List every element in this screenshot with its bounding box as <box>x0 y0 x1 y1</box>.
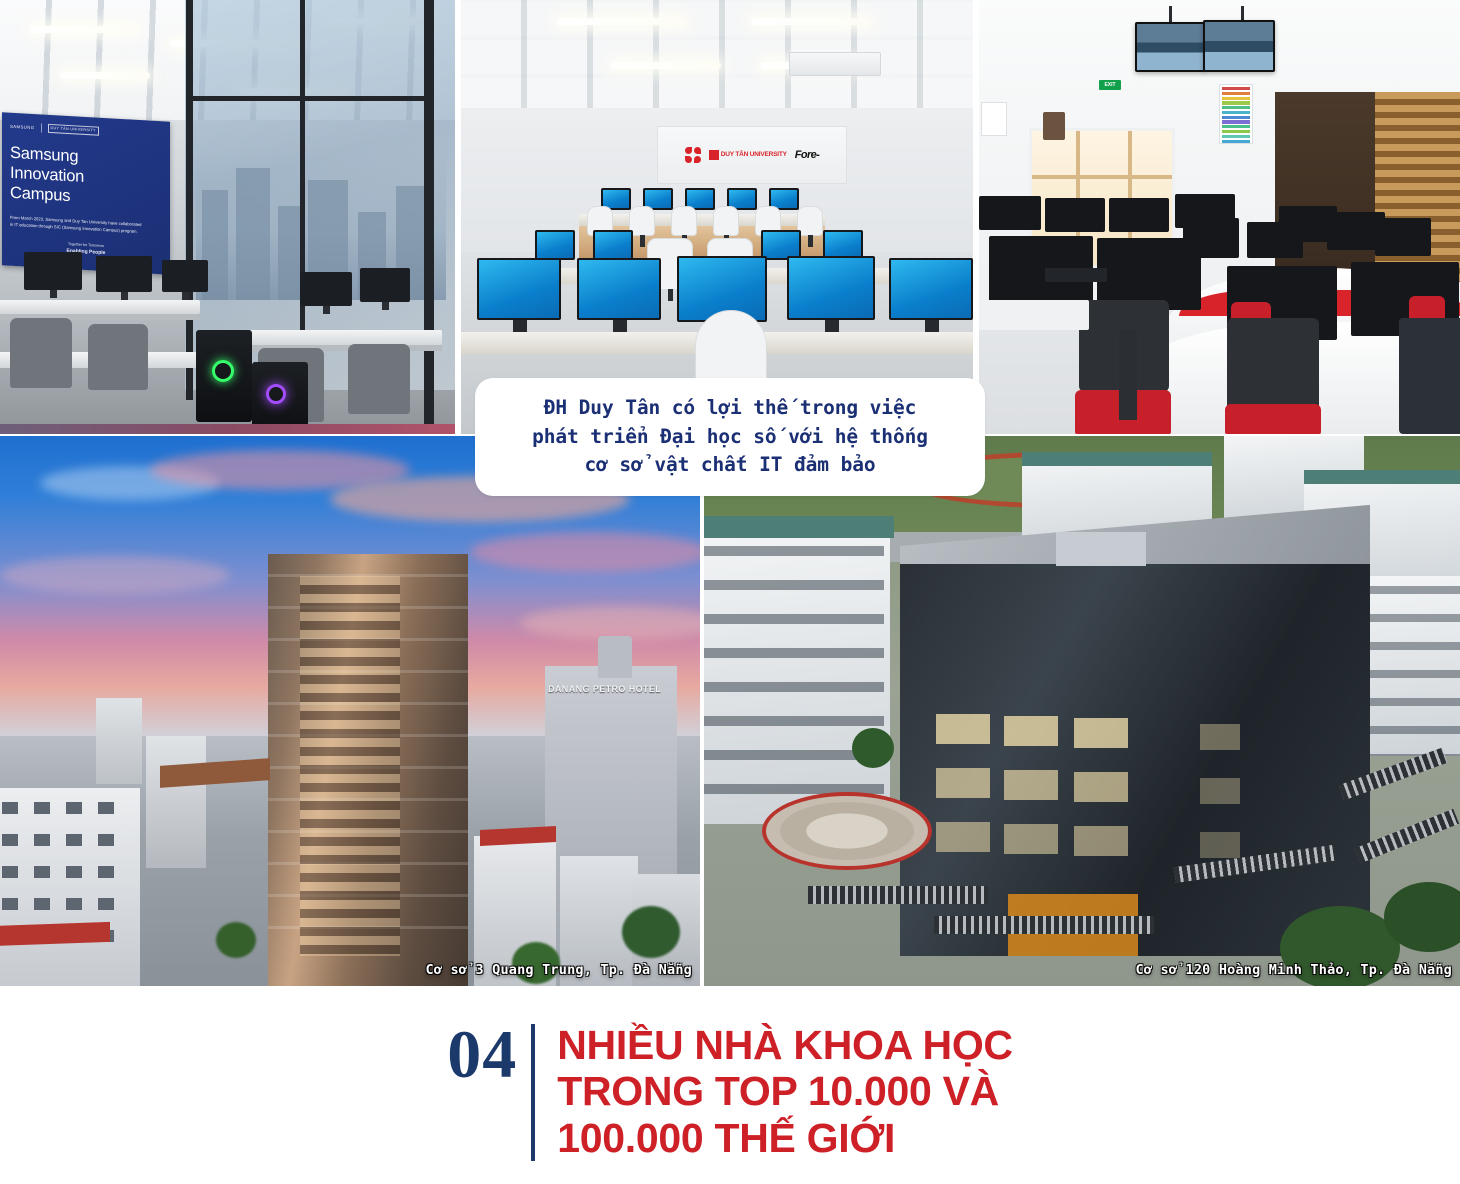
monitor <box>1109 198 1169 232</box>
banner-logo-row: SAMSUNG DUY TÂN UNIVERSITY <box>10 122 162 139</box>
desk <box>979 300 1089 330</box>
building-silhouette <box>278 206 300 300</box>
banner-title: Samsung Innovation Campus <box>10 143 162 212</box>
photo-caption: Cơ sở 3 Quang Trung, Tp. Đà Nẵng <box>426 962 693 978</box>
samsung-innovation-campus-banner: SAMSUNG DUY TÂN UNIVERSITY Samsung Innov… <box>2 112 170 274</box>
foretech-logo: Fore- <box>795 149 820 161</box>
monitor <box>889 258 973 320</box>
photo-collage: SAMSUNG DUY TÂN UNIVERSITY Samsung Innov… <box>0 0 1460 986</box>
monitor <box>96 256 152 292</box>
banner-body: From March 2023, Samsung and Duy Tan Uni… <box>10 215 162 236</box>
tree <box>216 922 256 958</box>
floor-strip <box>0 424 455 434</box>
teal-roof <box>1304 470 1460 484</box>
photo-co-so-3-quang-trung: DANANG PETRO HOTEL ĐẠI HỌC DUY TÂN <box>0 436 700 986</box>
monitor <box>787 256 875 320</box>
pull-quote-line-2: phát triển Đại học số với hệ thống <box>532 425 928 448</box>
ceiling-light <box>611 62 721 69</box>
apartment-block <box>0 788 140 986</box>
teal-roof <box>1022 452 1212 466</box>
hotel-sign: DANANG PETRO HOTEL <box>548 682 674 695</box>
window-rows <box>704 546 884 816</box>
red-chair <box>1225 404 1321 434</box>
pc-tower <box>196 330 252 422</box>
wall-logo-board: DUY TÂN UNIVERSITY Fore- <box>657 126 847 184</box>
ceiling-light <box>30 26 140 33</box>
tv-display <box>1135 22 1205 72</box>
chair-back <box>1399 318 1460 434</box>
building-silhouette <box>236 168 270 300</box>
monitor <box>979 196 1041 230</box>
article-page: SAMSUNG DUY TÂN UNIVERSITY Samsung Innov… <box>0 0 1460 1184</box>
chair-column <box>1119 330 1137 420</box>
ceiling-light <box>60 72 150 79</box>
headline-line-2: TRONG TOP 10.000 VÀ <box>557 1068 1012 1114</box>
monitor <box>1375 218 1431 256</box>
ceiling-grid <box>461 0 973 112</box>
tv-display <box>1203 20 1275 72</box>
rooftop-unit <box>1056 532 1146 566</box>
logo-divider <box>41 123 42 132</box>
monitor <box>24 252 82 290</box>
section-headline: 04 NHIỀU NHÀ KHOA HỌC TRONG TOP 10.000 V… <box>0 986 1460 1184</box>
pull-quote-line-3: cơ sở vật chất IT đảm bảo <box>584 453 875 476</box>
headline-divider <box>531 1024 535 1161</box>
desk <box>232 330 442 345</box>
office-chair <box>713 206 739 236</box>
window-mullion <box>424 0 434 434</box>
monitor <box>577 258 661 320</box>
cloud <box>0 556 230 594</box>
exit-sign: EXIT <box>1099 80 1121 90</box>
headline-text: NHIỀU NHÀ KHOA HỌC TRONG TOP 10.000 VÀ 1… <box>557 1022 1012 1161</box>
office-chair <box>348 344 410 414</box>
duytan-logo: DUY TÂN UNIVERSITY <box>48 124 99 135</box>
hotel-tower-top <box>598 636 632 678</box>
photo-lab-sugimura-foretech: DUY TÂN UNIVERSITY Fore- <box>461 0 973 434</box>
desk <box>0 300 200 314</box>
samsung-logo: SAMSUNG <box>10 124 35 130</box>
headline-inner: 04 NHIỀU NHÀ KHOA HỌC TRONG TOP 10.000 V… <box>447 1022 1012 1161</box>
duytan-logo: DUY TÂN UNIVERSITY <box>709 150 787 160</box>
monitor <box>360 268 410 302</box>
person-silhouette <box>1043 112 1065 140</box>
monitor <box>477 258 561 320</box>
office-chair <box>88 324 148 390</box>
tower-glass-facade <box>300 576 400 956</box>
window-mullion <box>186 0 193 400</box>
duytan-logo-text: DUY TÂN UNIVERSITY <box>721 152 787 159</box>
headline-line-3: 100.000 THẾ GIỚI <box>557 1115 1012 1161</box>
chair-back <box>1227 318 1319 414</box>
wall-note <box>981 102 1007 136</box>
headline-line-1: NHIỀU NHÀ KHOA HỌC <box>557 1022 1012 1068</box>
photo-co-so-120-hoang-minh-thao: Cơ sở 120 Hoàng Minh Thảo, Tp. Đà Nẵng <box>704 436 1460 986</box>
pull-quote-callout: ĐH Duy Tân có lợi thế trong việc phát tr… <box>475 378 985 496</box>
window-mullion <box>186 96 434 101</box>
building <box>96 698 142 784</box>
teal-roof <box>704 516 894 538</box>
circular-plaza <box>762 792 932 870</box>
tree <box>622 906 680 958</box>
office-chair <box>10 318 72 388</box>
photo-samsung-innovation-campus: SAMSUNG DUY TÂN UNIVERSITY Samsung Innov… <box>0 0 455 434</box>
monitor <box>535 230 575 260</box>
photo-caption: Cơ sở 120 Hoàng Minh Thảo, Tp. Đà Nẵng <box>1136 962 1452 978</box>
air-conditioner <box>789 52 881 76</box>
monitor <box>593 230 633 260</box>
photo-lab-curved-desks: EXIT <box>979 0 1460 434</box>
keyboard <box>1045 268 1107 282</box>
sugimura-group-logo <box>685 147 701 163</box>
wall-chart-poster <box>1219 84 1253 144</box>
ceiling-light <box>557 18 687 25</box>
palm-tree <box>852 728 894 768</box>
monitor <box>1045 198 1105 232</box>
monitor <box>300 272 352 306</box>
building <box>146 736 206 868</box>
monitor <box>162 260 208 292</box>
cloud <box>470 532 700 572</box>
pull-quote-line-1: ĐH Duy Tân có lợi thế trong việc <box>544 396 916 419</box>
section-number: 04 <box>447 1022 531 1087</box>
office-chair <box>671 206 697 236</box>
ceiling-light <box>751 18 871 25</box>
desk <box>579 214 825 226</box>
pull-quote-text: ĐH Duy Tân có lợi thế trong việc phát tr… <box>532 394 928 479</box>
pc-led-ring <box>212 360 234 382</box>
red-roof <box>0 922 110 946</box>
motorbike-row <box>934 916 1154 934</box>
motorbike-row <box>808 886 988 904</box>
pc-led-ring <box>266 384 286 404</box>
